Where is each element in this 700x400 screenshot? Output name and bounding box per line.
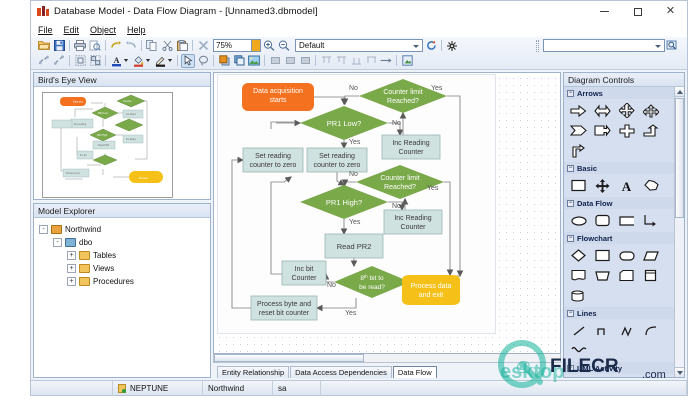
shape-card[interactable] bbox=[615, 266, 638, 285]
toolbar-separator bbox=[441, 40, 442, 51]
shape-arrow-double[interactable] bbox=[591, 101, 614, 120]
zoom-out-icon[interactable] bbox=[277, 39, 291, 53]
toolbar-separator bbox=[141, 40, 142, 51]
toolbar-separator bbox=[213, 55, 214, 66]
menu-help-label: Help bbox=[127, 25, 146, 35]
zoom-in-icon[interactable] bbox=[262, 39, 276, 53]
shape-activity-stadium-2[interactable]: Action bbox=[591, 376, 614, 377]
svg-text:Inc bit: Inc bit bbox=[80, 154, 87, 157]
svg-text:No: No bbox=[327, 282, 336, 289]
group-label: Lines bbox=[577, 309, 597, 318]
collapse-icon[interactable]: − bbox=[567, 200, 574, 207]
svg-text:A: A bbox=[622, 179, 632, 193]
search-area bbox=[536, 39, 679, 53]
toolbar-separator bbox=[105, 55, 106, 66]
node-set-reading-right[interactable]: Set reading counter to zero bbox=[307, 148, 367, 172]
expander-icon[interactable]: + bbox=[67, 277, 76, 286]
font-color-icon[interactable]: A bbox=[109, 54, 123, 68]
scrollbar-thumb[interactable] bbox=[675, 98, 684, 218]
status-server-label: NEPTUNE bbox=[130, 384, 168, 393]
pointer-icon[interactable] bbox=[181, 54, 195, 68]
menu-object-label: Object bbox=[90, 25, 116, 35]
collapse-icon[interactable]: − bbox=[567, 165, 574, 172]
minimize-icon bbox=[600, 11, 609, 12]
connector-icon[interactable] bbox=[379, 54, 393, 68]
status-user-label: sa bbox=[278, 384, 286, 393]
diagram-canvas[interactable]: Data acquisition starts Counter limit Re… bbox=[213, 72, 561, 354]
fit-to-window-icon[interactable] bbox=[445, 39, 459, 53]
svg-text:Counter limit: Counter limit bbox=[380, 175, 419, 182]
shape-line-zigzag[interactable] bbox=[615, 321, 638, 340]
svg-text:Inc bit: Inc bit bbox=[295, 266, 314, 273]
svg-text:Reached?: Reached? bbox=[387, 98, 419, 105]
close-button[interactable]: ✕ bbox=[654, 1, 687, 22]
shape-open-rect[interactable] bbox=[615, 211, 638, 230]
app-icon bbox=[37, 6, 49, 18]
svg-text:be read?: be read? bbox=[359, 284, 385, 291]
menu-item-file[interactable]: File bbox=[38, 25, 60, 35]
svg-text:Inc Read: Inc Read bbox=[126, 138, 136, 141]
model-explorer-title: Model Explorer bbox=[34, 204, 210, 218]
svg-text:Counter: Counter bbox=[292, 275, 318, 282]
database-icon bbox=[51, 225, 62, 234]
toolbar-separator bbox=[264, 55, 265, 66]
toolbar-separator bbox=[105, 40, 106, 51]
collapse-icon[interactable]: − bbox=[567, 310, 574, 317]
svg-text:Inc Reading: Inc Reading bbox=[394, 215, 431, 222]
node-inc-bit-counter[interactable]: Inc bit Counter bbox=[282, 261, 326, 285]
node-counter-limit-2[interactable]: Counter limit Reached? bbox=[356, 165, 444, 199]
svg-text:Yes: Yes bbox=[349, 139, 361, 146]
align-right-icon[interactable] bbox=[298, 54, 312, 68]
toolbar-separator bbox=[396, 55, 397, 66]
main-body: Bird's Eye View bbox=[31, 70, 687, 380]
shape-internal-storage[interactable] bbox=[639, 266, 662, 285]
tab-entity-relationship[interactable]: Entity Relationship bbox=[217, 366, 289, 378]
group-label: Basic bbox=[577, 164, 597, 173]
node-pr1-low[interactable]: PR1 Low? bbox=[300, 106, 388, 140]
bring-front-icon[interactable] bbox=[217, 54, 231, 68]
style-combo[interactable]: Default bbox=[295, 39, 423, 52]
tree-node-dbo[interactable]: - dbo bbox=[39, 236, 210, 249]
shape-parallelogram[interactable] bbox=[639, 246, 662, 265]
align-grid-icon[interactable] bbox=[73, 54, 87, 68]
shape-grid-lines bbox=[564, 319, 674, 362]
svg-text:No: No bbox=[392, 120, 401, 127]
shape-grid-data-flow bbox=[564, 209, 674, 232]
svg-text:Data acquisition: Data acquisition bbox=[253, 88, 303, 95]
print-icon[interactable] bbox=[73, 39, 87, 53]
svg-text:Process byte and: Process byte and bbox=[257, 301, 311, 308]
tree-node-label: Northwind bbox=[65, 225, 101, 234]
toolbar-separator bbox=[69, 55, 70, 66]
collapse-icon[interactable]: − bbox=[567, 365, 574, 372]
svg-text:Read PR2: Read PR2 bbox=[98, 144, 110, 147]
tree-node-tables[interactable]: + Tables bbox=[39, 249, 210, 262]
svg-text:8th bit to: 8th bit to bbox=[360, 274, 384, 282]
status-database: Northwind bbox=[203, 381, 273, 396]
shape-document[interactable] bbox=[567, 266, 590, 285]
status-bar: NEPTUNE Northwind sa bbox=[31, 380, 687, 395]
search-input[interactable] bbox=[543, 39, 665, 52]
shape-filled-circle[interactable] bbox=[615, 376, 638, 377]
close-icon: ✕ bbox=[666, 6, 675, 17]
cut-icon[interactable] bbox=[160, 39, 174, 53]
shape-plus-cross[interactable] bbox=[591, 176, 614, 195]
shape-activity-stadium[interactable]: Activity bbox=[567, 376, 590, 377]
open-folder-icon[interactable] bbox=[37, 39, 51, 53]
shape-terminator-oval[interactable] bbox=[615, 246, 638, 265]
status-cell-blank-1 bbox=[31, 381, 113, 396]
shape-arrow-bent-corner[interactable] bbox=[567, 141, 590, 160]
schema-icon bbox=[65, 238, 76, 247]
folder-icon bbox=[79, 277, 90, 286]
folder-icon bbox=[79, 251, 90, 260]
svg-text:Process data: Process data bbox=[411, 283, 452, 290]
shape-line-arc[interactable] bbox=[639, 321, 662, 340]
node-set-reading-left[interactable]: Set reading counter to zero bbox=[243, 148, 303, 172]
node-process-byte[interactable]: Process byte and reset bit counter bbox=[251, 296, 317, 320]
diagram-controls-scroll-content: − Arrows bbox=[564, 87, 674, 377]
server-connection-icon bbox=[118, 384, 126, 393]
collapse-icon[interactable]: − bbox=[567, 90, 574, 97]
status-database-label: Northwind bbox=[208, 384, 244, 393]
svg-text:No: No bbox=[349, 171, 358, 178]
zoom-value: 75% bbox=[216, 41, 232, 50]
scrollbar-thumb[interactable] bbox=[214, 354, 364, 362]
copy-icon[interactable] bbox=[145, 39, 159, 53]
group-header-uml-activity[interactable]: − UML Activity bbox=[564, 362, 674, 374]
collapse-icon[interactable]: − bbox=[567, 235, 574, 242]
window-title: Database Model - Data Flow Diagram - [Un… bbox=[54, 6, 318, 17]
svg-text:counter to zero: counter to zero bbox=[314, 162, 361, 169]
align-left-icon[interactable] bbox=[268, 54, 282, 68]
toolbar-row-format: A bbox=[37, 53, 687, 68]
model-explorer-panel: Model Explorer - Northwind - db bbox=[33, 203, 211, 378]
shape-grid-arrows bbox=[564, 99, 674, 162]
undo-icon[interactable] bbox=[109, 39, 123, 53]
delete-icon[interactable] bbox=[196, 39, 210, 53]
scroll-down-arrow[interactable] bbox=[675, 367, 684, 377]
svg-text:PR1 Low: PR1 Low bbox=[98, 112, 108, 115]
shape-bent-connector[interactable] bbox=[639, 211, 662, 230]
menu-item-object[interactable]: Object bbox=[90, 25, 123, 35]
fill-color-icon[interactable] bbox=[131, 54, 145, 68]
svg-text:Counter: Counter bbox=[401, 224, 427, 231]
distribute-even-icon[interactable] bbox=[364, 54, 378, 68]
birds-eye-thumbnail: Data acq PR1 Low Counter Set reading Inc… bbox=[43, 93, 173, 198]
group-header-basic[interactable]: − Basic bbox=[564, 162, 674, 174]
svg-text:Data acq: Data acq bbox=[73, 101, 83, 104]
shape-arrow-split[interactable] bbox=[639, 101, 662, 120]
link-icon[interactable] bbox=[37, 54, 51, 68]
shape-rounded-rect[interactable] bbox=[591, 211, 614, 230]
tree-node-views[interactable]: + Views bbox=[39, 262, 210, 275]
toolbar-separator bbox=[315, 55, 316, 66]
diagram-controls-body: − Arrows bbox=[564, 87, 684, 377]
tab-data-access-dependencies[interactable]: Data Access Dependencies bbox=[290, 366, 392, 378]
svg-text:Process byte: Process byte bbox=[66, 172, 80, 175]
shape-line-step[interactable] bbox=[591, 321, 614, 340]
node-inc-reading-counter-1[interactable]: Inc Reading Counter bbox=[382, 135, 440, 159]
style-value: Default bbox=[299, 41, 324, 50]
diagram-controls-scrollbar[interactable] bbox=[674, 87, 684, 377]
diagram-controls-panel: Diagram Controls − Arrows bbox=[563, 72, 685, 378]
toolbar-grip[interactable] bbox=[536, 40, 539, 52]
shape-line-diagonal[interactable] bbox=[567, 321, 590, 340]
document-area: Data acquisition starts Counter limit Re… bbox=[213, 72, 561, 378]
refresh-icon[interactable] bbox=[424, 39, 438, 53]
document-tabs: Entity Relationship Data Access Dependen… bbox=[213, 365, 561, 378]
paste-icon[interactable] bbox=[175, 39, 189, 53]
folder-icon bbox=[79, 264, 90, 273]
svg-text:Set reading: Set reading bbox=[255, 153, 291, 160]
toolbar-separator bbox=[192, 40, 193, 51]
node-process-data-exit[interactable]: Process data and exit bbox=[402, 275, 460, 305]
group-header-data-flow[interactable]: − Data Flow bbox=[564, 197, 674, 209]
svg-text:Yes: Yes bbox=[427, 185, 439, 192]
shape-grid-uml-activity: Activity Action <? bbox=[564, 374, 674, 377]
svg-text:reset bit counter: reset bit counter bbox=[259, 310, 310, 317]
horizontal-scrollbar[interactable] bbox=[213, 354, 561, 363]
shape-grid-basic: A bbox=[564, 174, 674, 197]
zoom-input[interactable]: 75% bbox=[213, 39, 261, 52]
title-bar: Database Model - Data Flow Diagram - [Un… bbox=[31, 1, 687, 22]
svg-text:No: No bbox=[349, 85, 358, 92]
node-pr1-high[interactable]: PR1 High? bbox=[300, 185, 388, 219]
shape-arrow-bent-up[interactable] bbox=[639, 121, 662, 140]
group-header-flowchart[interactable]: − Flowchart bbox=[564, 232, 674, 244]
tree-node-label: Views bbox=[93, 264, 114, 273]
birds-eye-view-body[interactable]: Data acq PR1 Low Counter Set reading Inc… bbox=[34, 87, 210, 199]
svg-text:No: No bbox=[392, 203, 401, 210]
svg-text:counter to zero: counter to zero bbox=[250, 162, 297, 169]
svg-text:PR1 High: PR1 High bbox=[97, 134, 108, 137]
expander-icon[interactable]: + bbox=[67, 264, 76, 273]
node-start[interactable]: Data acquisition starts bbox=[242, 83, 314, 111]
distribute-top-icon[interactable] bbox=[319, 54, 333, 68]
group-header-lines[interactable]: − Lines bbox=[564, 307, 674, 319]
shape-ellipse[interactable] bbox=[567, 211, 590, 230]
birds-eye-view-panel: Bird's Eye View bbox=[33, 72, 211, 200]
toolbar-zone: 75% Default bbox=[31, 37, 687, 70]
save-icon[interactable] bbox=[52, 39, 66, 53]
left-dock: Bird's Eye View bbox=[33, 72, 211, 378]
group-label: UML Activity bbox=[577, 364, 622, 373]
shape-text-a[interactable]: A bbox=[615, 176, 638, 195]
birds-eye-view-title: Bird's Eye View bbox=[34, 73, 210, 87]
diagram-controls-title: Diagram Controls bbox=[564, 73, 684, 87]
menu-edit-label: Edit bbox=[64, 25, 80, 35]
tree-node-label: Procedures bbox=[93, 277, 134, 286]
svg-text:Yes: Yes bbox=[349, 219, 361, 226]
svg-text:Counter: Counter bbox=[399, 149, 425, 156]
export-icon[interactable] bbox=[400, 54, 414, 68]
shape-rectangle[interactable] bbox=[567, 176, 590, 195]
chevron-down-icon bbox=[655, 45, 661, 48]
shape-grid-flowchart bbox=[564, 244, 674, 307]
shape-arrow-right[interactable] bbox=[567, 101, 590, 120]
node-8th-bit[interactable]: 8th bit to be read? bbox=[334, 266, 410, 298]
redo-icon[interactable] bbox=[124, 39, 138, 53]
birds-eye-canvas[interactable]: Data acq PR1 Low Counter Set reading Inc… bbox=[42, 92, 173, 198]
distribute-bottom-icon[interactable] bbox=[349, 54, 363, 68]
lasso-icon[interactable] bbox=[196, 54, 210, 68]
shape-arrow-four-way[interactable] bbox=[615, 101, 638, 120]
window-controls: ✕ bbox=[588, 1, 687, 22]
print-preview-icon[interactable] bbox=[88, 39, 102, 53]
svg-text:Reached?: Reached? bbox=[384, 184, 416, 191]
expander-icon[interactable]: + bbox=[67, 251, 76, 260]
tree-node-procedures[interactable]: + Procedures bbox=[39, 275, 210, 288]
expander-icon[interactable]: - bbox=[53, 238, 62, 247]
shape-arrow-cross[interactable] bbox=[615, 121, 638, 140]
tree-node-northwind[interactable]: - Northwind bbox=[39, 223, 210, 236]
group-label: Data Flow bbox=[577, 199, 612, 208]
snap-grid-icon[interactable] bbox=[88, 54, 102, 68]
align-center-icon[interactable] bbox=[283, 54, 297, 68]
svg-text:Set reading: Set reading bbox=[74, 123, 87, 126]
tree-node-label: dbo bbox=[79, 238, 92, 247]
status-spacer bbox=[321, 381, 687, 396]
svg-text:and exit: and exit bbox=[419, 292, 444, 299]
menu-item-edit[interactable]: Edit bbox=[64, 25, 87, 35]
svg-text:Counter: Counter bbox=[123, 100, 132, 103]
menu-item-help[interactable]: Help bbox=[127, 25, 153, 35]
toolbar-row-standard: 75% Default bbox=[37, 38, 687, 53]
node-read-pr2[interactable]: Read PR2 bbox=[325, 234, 383, 258]
svg-text:Inc Reading: Inc Reading bbox=[392, 140, 429, 147]
shape-line-wave[interactable] bbox=[567, 341, 590, 360]
expander-icon[interactable]: - bbox=[39, 225, 48, 234]
maximize-button[interactable] bbox=[621, 1, 654, 22]
menu-bar: File Edit Object Help bbox=[31, 22, 687, 37]
flowchart: Data acquisition starts Counter limit Re… bbox=[214, 73, 561, 354]
shape-decision-diamond[interactable] bbox=[567, 246, 590, 265]
svg-text:Inc Read: Inc Read bbox=[126, 113, 136, 116]
minimize-button[interactable] bbox=[588, 1, 621, 22]
chevron-down-icon[interactable] bbox=[168, 59, 172, 62]
search-icon[interactable] bbox=[665, 39, 679, 53]
model-explorer-tree: - Northwind - dbo + bbox=[34, 218, 210, 288]
svg-text:A: A bbox=[113, 56, 119, 65]
svg-text:Counter limit: Counter limit bbox=[383, 89, 422, 96]
svg-text:Process: Process bbox=[139, 177, 148, 180]
svg-text:PR1 High?: PR1 High? bbox=[326, 198, 362, 207]
chevron-down-icon bbox=[413, 45, 419, 48]
tree-node-label: Tables bbox=[93, 251, 116, 260]
line-color-icon[interactable] bbox=[153, 54, 167, 68]
svg-text:Yes: Yes bbox=[345, 310, 357, 317]
model-explorer-body[interactable]: - Northwind - dbo + bbox=[34, 218, 210, 377]
shape-trapezoid[interactable] bbox=[591, 266, 614, 285]
chevron-down-icon[interactable] bbox=[146, 59, 150, 62]
shape-end-state-circle[interactable] bbox=[639, 376, 662, 377]
group-header-arrows[interactable]: − Arrows bbox=[564, 87, 674, 99]
app-root: Database Model - Data Flow Diagram - [Un… bbox=[0, 0, 700, 400]
svg-text:Read PR2: Read PR2 bbox=[337, 242, 372, 251]
svg-text:PR1 Low?: PR1 Low? bbox=[327, 119, 362, 128]
shape-stored-data[interactable] bbox=[567, 286, 590, 305]
svg-text:Set reading: Set reading bbox=[319, 153, 355, 160]
group-label: Arrows bbox=[577, 89, 603, 98]
send-back-icon[interactable] bbox=[232, 54, 246, 68]
scroll-up-arrow[interactable] bbox=[675, 87, 684, 97]
status-server: NEPTUNE bbox=[113, 381, 203, 396]
tab-data-flow[interactable]: Data Flow bbox=[393, 366, 437, 378]
svg-text:Yes: Yes bbox=[431, 85, 443, 92]
toolbar-separator bbox=[177, 55, 178, 66]
shape-arrow-pentagon[interactable] bbox=[567, 121, 590, 140]
image-icon[interactable] bbox=[247, 54, 261, 68]
unlink-icon[interactable] bbox=[52, 54, 66, 68]
menu-file-label: File bbox=[38, 25, 53, 35]
svg-text:starts: starts bbox=[269, 97, 287, 104]
distribute-middle-icon[interactable] bbox=[334, 54, 348, 68]
shape-irregular-polygon[interactable] bbox=[639, 176, 662, 195]
chevron-down-icon[interactable] bbox=[124, 59, 128, 62]
node-inc-reading-counter-2[interactable]: Inc Reading Counter bbox=[384, 210, 442, 234]
maximize-icon bbox=[634, 8, 642, 16]
group-label: Flowchart bbox=[577, 234, 612, 243]
toolbar-separator bbox=[69, 40, 70, 51]
zoom-spinner[interactable] bbox=[251, 40, 260, 51]
application-window: Database Model - Data Flow Diagram - [Un… bbox=[30, 0, 688, 396]
status-user: sa bbox=[273, 381, 321, 396]
shape-arrow-callout[interactable] bbox=[591, 121, 614, 140]
shape-process-rect[interactable] bbox=[591, 246, 614, 265]
